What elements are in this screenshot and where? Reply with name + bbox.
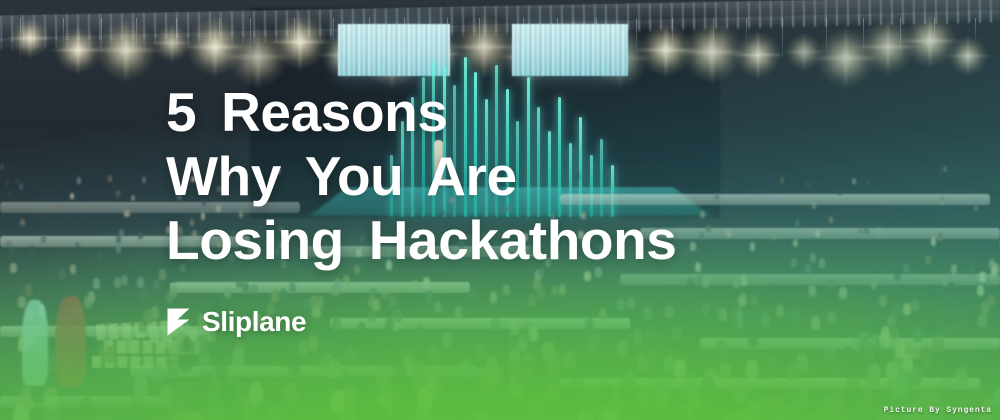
sliplane-logo[interactable]: Sliplane [166,306,306,338]
headline-line-1: 5 Reasons [166,80,996,144]
sliplane-flag-logo-icon [166,307,191,337]
brand-wordmark: Sliplane [202,306,306,338]
headline-line-3: Losing Hackathons [166,208,996,272]
banner-content: 5 Reasons Why You Are Losing Hackathons … [0,0,1000,420]
photo-credit: Picture By Syngenta [884,406,992,415]
page-title: 5 Reasons Why You Are Losing Hackathons [166,80,996,272]
headline-line-2: Why You Are [166,144,996,208]
blog-hero-banner: 5 Reasons Why You Are Losing Hackathons … [0,0,1000,420]
